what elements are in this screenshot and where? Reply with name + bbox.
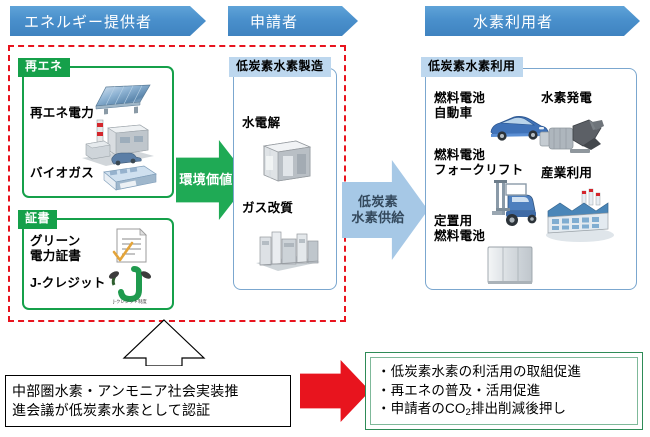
item-label-industrial-use: 産業利用	[541, 166, 592, 181]
item-label-green-power-certificate: グリーン 電力証書	[30, 234, 110, 265]
certification-statement-box: 中部圏水素・アンモニア社会実装推 進会議が低炭素水素として認証	[5, 375, 291, 427]
hydrogen-turbine-icon	[534, 116, 610, 160]
item-label-j-credit: J-クレジット	[30, 276, 114, 291]
item-label-fuel-cell-vehicle: 燃料電池 自動車	[434, 91, 485, 122]
certificate-document-icon	[108, 226, 152, 268]
biogas-module-icon	[96, 160, 158, 194]
box-tab-low-carbon-hydrogen-production: 低炭素水素製造	[229, 57, 331, 77]
outcome-line-3-post: 排出削減後押し	[471, 401, 566, 416]
gas-reformer-plant-icon	[250, 221, 324, 277]
certification-statement-text: 中部圏水素・アンモニア社会実装推 進会議が低炭素水素として認証	[12, 382, 239, 419]
banner-applicant-label: 申請者	[250, 11, 298, 32]
arrow-hydrogen-supply-label: 低炭素 水素供給	[351, 194, 404, 225]
arrow-environmental-value-label: 環境価値	[179, 172, 232, 188]
outcome-line-1: ・低炭素水素の利活用の取組促進	[377, 363, 631, 381]
banner-hydrogen-user: 水素利用者	[425, 6, 640, 36]
stationary-fuel-cell-icon	[482, 243, 538, 287]
item-label-fuel-cell-forklift: 燃料電池 フォークリフト	[434, 148, 524, 179]
fuel-cell-forklift-icon	[482, 175, 544, 229]
industrial-factory-icon	[540, 185, 618, 245]
arrow-outcome-right	[300, 360, 370, 422]
item-label-gas-reforming: ガス改質	[242, 201, 293, 216]
arrow-hydrogen-supply: 低炭素 水素供給	[342, 160, 428, 260]
banner-hydrogen-user-label: 水素利用者	[473, 11, 553, 32]
item-label-hydrogen-power-generation: 水素発電	[541, 91, 592, 106]
electrolyzer-icon	[256, 134, 316, 186]
banner-energy-provider: エネルギー提供者	[10, 6, 206, 36]
banner-applicant: 申請者	[228, 6, 358, 36]
outcome-line-3-pre: ・申請者のCO	[377, 401, 465, 416]
banner-energy-provider-label: エネルギー提供者	[24, 11, 152, 32]
outcome-line-2: ・再エネの普及・活用促進	[377, 382, 631, 400]
outcome-inner-frame: ・低炭素水素の利活用の取組促進 ・再エネの普及・活用促進 ・申請者のCO2排出削…	[370, 357, 638, 425]
diagram-canvas: エネルギー提供者 申請者 水素利用者 再エネ	[0, 0, 650, 437]
outcome-line-3: ・申請者のCO2排出削減後押し	[377, 400, 631, 418]
arrow-certification-up	[112, 318, 216, 366]
outcome-line-3-sub: 2	[465, 407, 470, 418]
group-tab-certificates: 証書	[18, 210, 57, 229]
outcome-box: ・低炭素水素の利活用の取組促進 ・再エネの普及・活用促進 ・申請者のCO2排出削…	[365, 352, 643, 430]
box-tab-low-carbon-hydrogen-use: 低炭素水素利用	[421, 57, 523, 77]
item-label-stationary-fuel-cell: 定置用 燃料電池	[434, 214, 485, 245]
j-credit-logo-icon: J-クレジット制度	[106, 264, 154, 306]
item-label-water-electrolysis: 水電解	[242, 116, 280, 131]
group-tab-renewable-energy: 再エネ	[18, 58, 70, 77]
svg-text:J-クレジット制度: J-クレジット制度	[112, 298, 147, 305]
